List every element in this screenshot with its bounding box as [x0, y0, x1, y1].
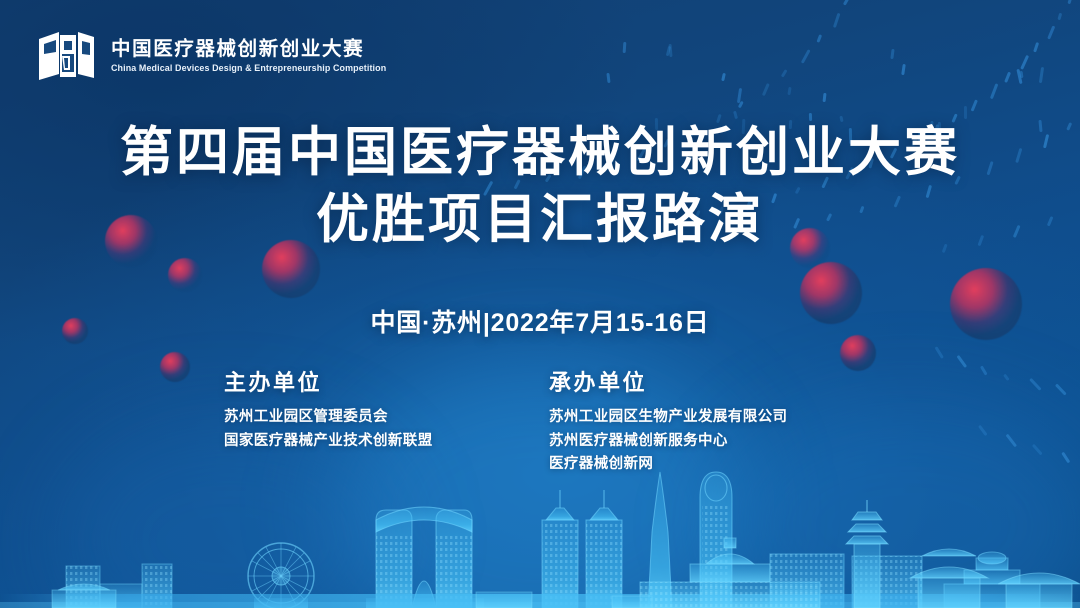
- decorative-sphere: [168, 258, 202, 292]
- background-tick: [801, 49, 811, 63]
- suzhou-skyline: [0, 458, 1080, 608]
- background-tick: [935, 346, 944, 358]
- background-tick: [781, 69, 787, 77]
- organizer-heading: 主办单位: [224, 370, 539, 396]
- background-tick: [1067, 0, 1072, 4]
- background-tick: [1034, 43, 1040, 53]
- background-tick: [666, 46, 671, 56]
- background-tick: [762, 82, 770, 95]
- background-tick: [1019, 71, 1022, 78]
- logo-chinese-name: 中国医疗器械创新创业大赛: [111, 39, 395, 60]
- background-tick: [738, 100, 744, 108]
- background-tick: [733, 111, 737, 119]
- organizer-entry: 国家医疗器械产业技术创新联盟: [224, 430, 539, 453]
- title-line-1: 第四届中国医疗器械创新创业大赛: [0, 122, 1080, 183]
- organizer-entry: 苏州工业园区生物产业发展有限公司: [549, 406, 864, 429]
- background-tick: [1047, 25, 1055, 39]
- skyline-secondary-layer: [0, 478, 1080, 608]
- background-tick: [669, 44, 673, 57]
- background-tick: [1016, 69, 1022, 84]
- organizer-heading: 承办单位: [549, 370, 864, 396]
- background-tick: [971, 99, 978, 111]
- background-tick: [833, 13, 840, 28]
- logo-text-block: 中国医疗器械创新创业大赛 China Medical Devices Desig…: [111, 39, 395, 73]
- organizer-column-coorganizer: 承办单位 苏州工业园区生物产业发展有限公司 苏州医疗器械创新服务中心 医疗器械创…: [539, 370, 864, 477]
- poster-title-block: 第四届中国医疗器械创新创业大赛 优胜项目汇报路演: [0, 122, 1080, 251]
- competition-logo: 中国医疗器械创新创业大赛 China Medical Devices Desig…: [36, 30, 395, 82]
- location-date-line: 中国·苏州|2022年7月15-16日: [0, 303, 1080, 339]
- background-tick: [901, 64, 905, 75]
- organizer-entry: 苏州医疗器械创新服务中心: [549, 430, 864, 453]
- organizer-entry: 医疗器械创新网: [549, 453, 864, 476]
- background-tick: [1038, 66, 1043, 82]
- organizer-entry: 苏州工业园区管理委员会: [224, 406, 539, 429]
- background-tick: [842, 0, 848, 5]
- skyline-ground-glow: [0, 594, 1080, 608]
- event-poster: 中国医疗器械创新创业大赛 China Medical Devices Desig…: [0, 0, 1080, 608]
- background-tick: [1021, 55, 1030, 70]
- organizer-column-host: 主办单位 苏州工业园区管理委员会 国家医疗器械产业技术创新联盟: [216, 370, 539, 477]
- background-tick: [890, 49, 894, 59]
- background-tick: [816, 34, 821, 43]
- background-tick: [623, 42, 626, 53]
- decorative-sphere: [840, 335, 876, 371]
- background-tick: [721, 73, 725, 82]
- background-tick: [809, 113, 812, 121]
- organizers-section: 主办单位 苏州工业园区管理委员会 国家医疗器械产业技术创新联盟 承办单位 苏州工…: [0, 370, 1080, 477]
- background-tick: [990, 84, 998, 100]
- background-tick: [957, 355, 967, 368]
- background-tick: [964, 106, 967, 119]
- background-tick: [823, 93, 827, 103]
- background-tick: [606, 73, 610, 84]
- background-tick: [788, 87, 792, 95]
- open-door-window-icon: [36, 30, 98, 82]
- background-tick: [737, 88, 742, 103]
- logo-english-name: China Medical Devices Design & Entrepren…: [111, 63, 386, 73]
- background-tick: [1057, 13, 1061, 21]
- title-line-2: 优胜项目汇报路演: [0, 189, 1080, 250]
- background-tick: [1004, 72, 1010, 83]
